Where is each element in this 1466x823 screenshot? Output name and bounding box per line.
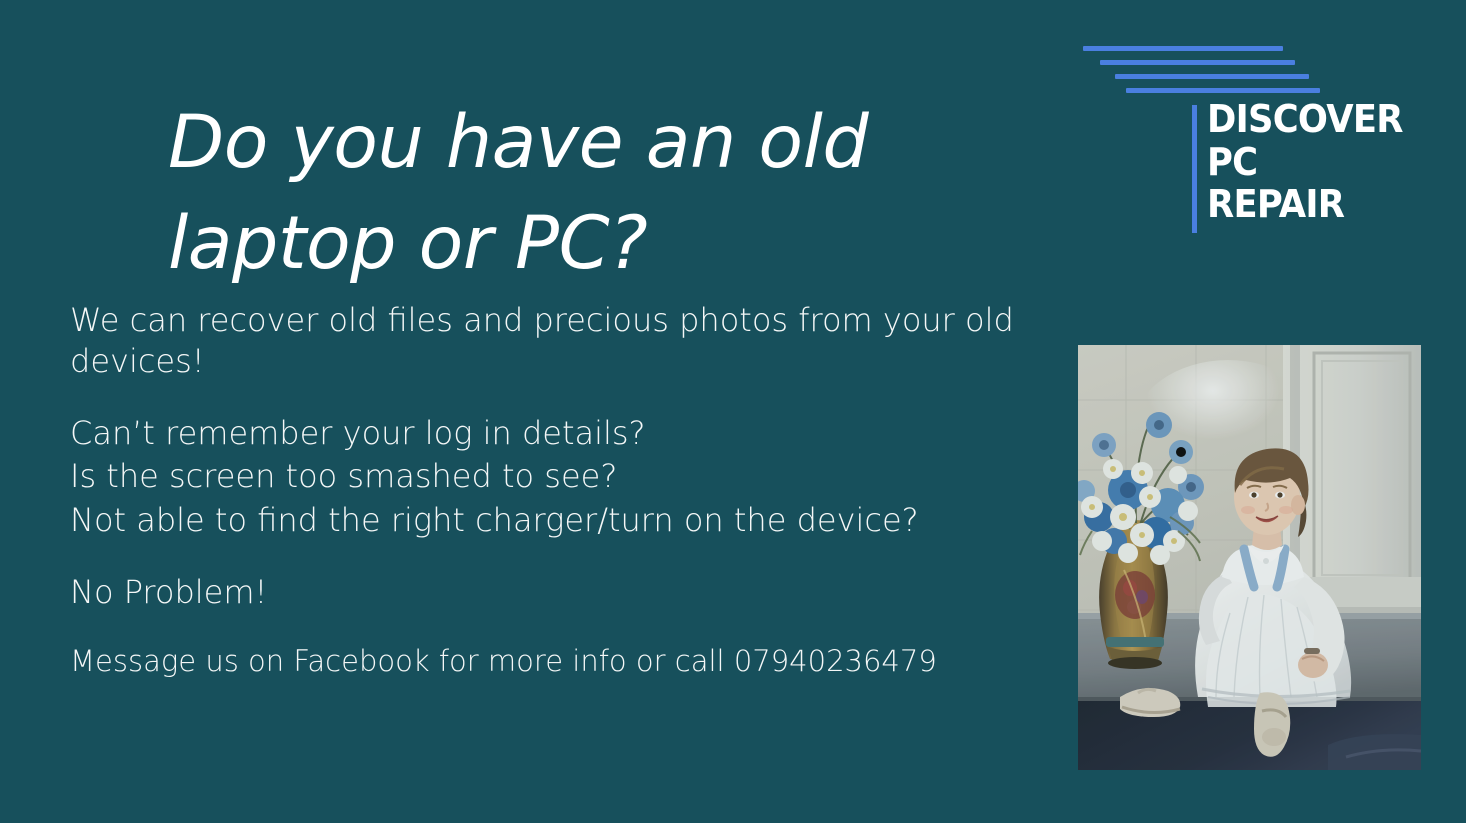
logo-rule-icon-3: [1115, 74, 1309, 79]
question-line-charger: Not able to find the right charger/turn …: [70, 499, 1050, 543]
body-paragraph-recovery: We can recover old files and precious ph…: [70, 300, 1050, 382]
brand-logo: DISCOVER PC REPAIR: [1080, 38, 1330, 243]
logo-vertical-bar-icon: [1192, 105, 1197, 233]
page-title: Do you have an old laptop or PC?: [168, 93, 998, 294]
promo-slide: Do you have an old laptop or PC? We can …: [0, 0, 1466, 823]
logo-rule-icon-1: [1083, 46, 1283, 51]
body-paragraph-no-problem: No Problem!: [70, 572, 1050, 613]
photo-toddler-with-flowers: [1078, 345, 1421, 770]
logo-rule-icon-4: [1126, 88, 1320, 93]
question-line-screen: Is the screen too smashed to see?: [70, 455, 1050, 499]
logo-rule-icon-2: [1100, 60, 1295, 65]
photo-illustration: [1078, 345, 1421, 770]
body-paragraph-questions: Can’t remember your log in details? Is t…: [70, 412, 1050, 543]
body-copy: We can recover old files and precious ph…: [70, 300, 1050, 681]
question-line-login: Can’t remember your log in details?: [70, 412, 1050, 456]
body-paragraph-contact: Message us on Facebook for more info or …: [70, 643, 1050, 680]
logo-wordmark: DISCOVER PC REPAIR: [1207, 98, 1403, 226]
